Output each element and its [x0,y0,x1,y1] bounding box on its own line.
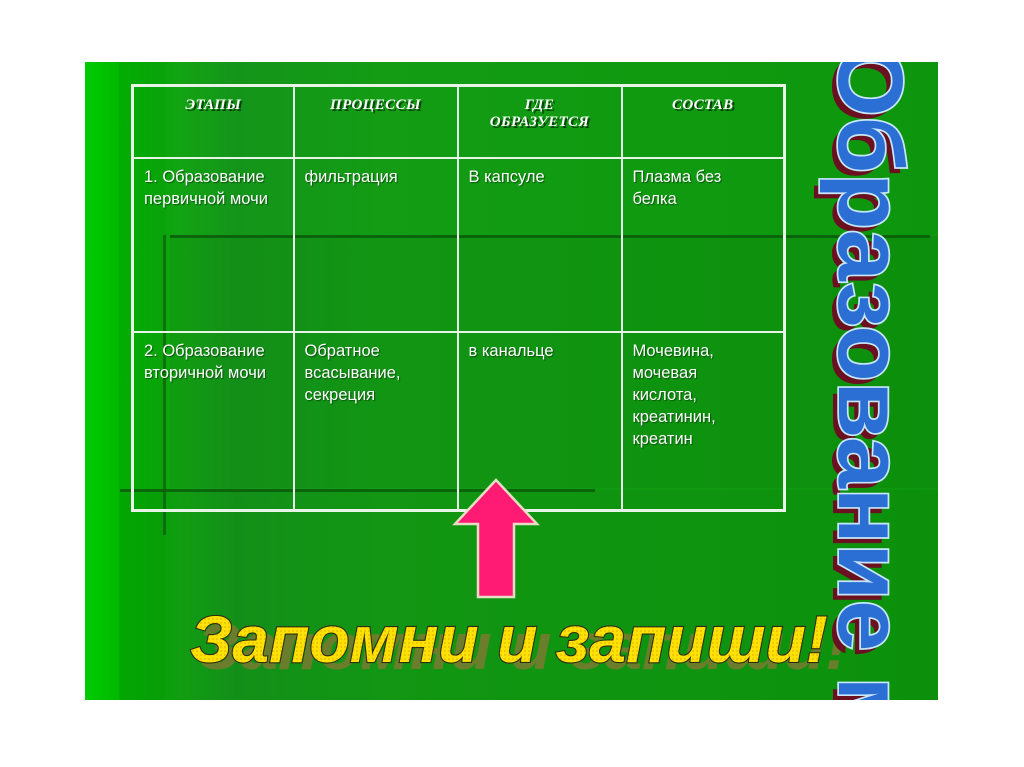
background-shade-panel-lower [120,490,938,700]
table-row: 1. Образование первичной мочи фильтрация… [133,158,785,332]
header-lines: ГДЕ ОБРАЗУЕТСЯ [469,97,611,131]
urine-formation-table: ЭТАПЫ ПРОЦЕССЫ ГДЕ ОБРАЗУЕТСЯ СО [131,84,786,512]
header-lines: ПРОЦЕССЫ [305,97,447,114]
cell-lines: 2. Образование вторичной мочи [144,341,283,385]
header-lines: СОСТАВ [633,97,774,114]
memo-wordart-text: Запомни и запиши! [190,602,828,676]
column-header-processes: ПРОЦЕССЫ [294,86,458,159]
cell-lines: фильтрация [305,167,447,189]
column-header-composition: СОСТАВ [622,86,785,159]
cell-lines: 1. Образование первичной мочи [144,167,283,211]
table-header-row: ЭТАПЫ ПРОЦЕССЫ ГДЕ ОБРАЗУЕТСЯ СО [133,86,785,159]
cell-location-1: В капсуле [458,158,622,332]
memo-wordart: Запомни и запиши! Запомни и запиши! [180,602,880,682]
header-lines: ЭТАПЫ [144,97,283,114]
title-wordart-text: Образование мочи [819,62,921,700]
cell-composition-2: Мочевина, мочевая кислота, креатинин, кр… [622,332,785,511]
cell-process-1: фильтрация [294,158,458,332]
cell-lines: в канальце [469,341,611,363]
column-header-stages: ЭТАПЫ [133,86,294,159]
title-wordart-shadow: Образование мочи [813,62,915,700]
cell-lines: В капсуле [469,167,611,189]
table-row: 2. Образование вторичной мочи Обратное в… [133,332,785,511]
background-strip-left [85,62,119,700]
cell-composition-1: Плазма без белка [622,158,785,332]
cell-lines: Мочевина, мочевая кислота, креатинин, кр… [633,341,774,451]
memo-wordart-shadow: Запомни и запиши! [197,611,847,682]
cell-process-2: Обратное всасывание, секреция [294,332,458,511]
cell-lines: Плазма без белка [633,167,774,211]
title-wordart: Образование мочи Образование мочи [785,62,938,700]
cell-lines: Обратное всасывание, секреция [305,341,447,407]
slide-canvas: ЭТАПЫ ПРОЦЕССЫ ГДЕ ОБРАЗУЕТСЯ СО [85,62,938,700]
cell-stage-2: 2. Образование вторичной мочи [133,332,294,511]
cell-stage-1: 1. Образование первичной мочи [133,158,294,332]
title-wordart-rotator: Образование мочи Образование мочи [805,62,925,700]
column-header-where-formed: ГДЕ ОБРАЗУЕТСЯ [458,86,622,159]
cell-location-2: в канальце [458,332,622,511]
